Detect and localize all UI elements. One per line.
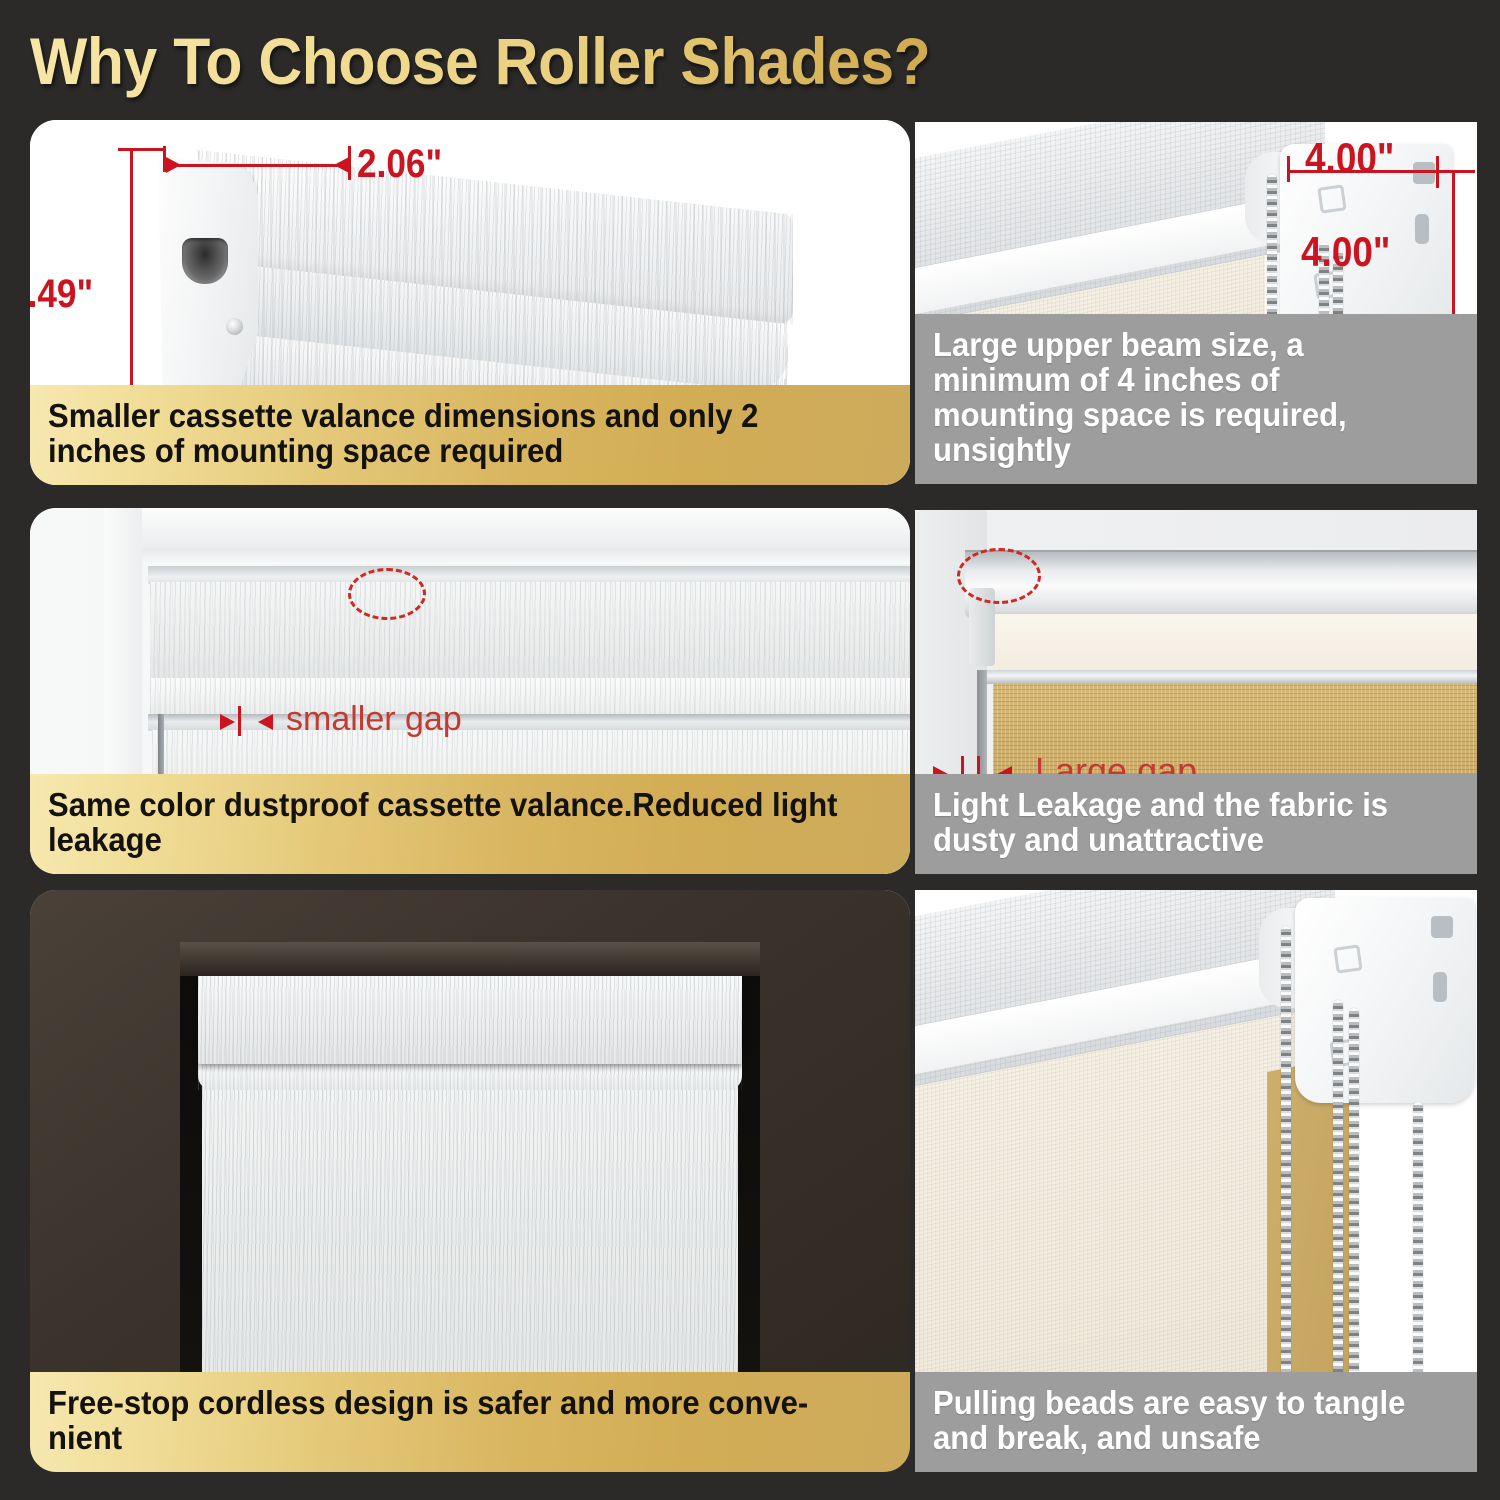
comparison-grid: 2.06" 5.49" Smaller cassette valance dim… xyxy=(0,0,1500,1500)
panel-6-caption: Pulling beads are easy to tangle and bre… xyxy=(915,1372,1477,1472)
bracket-emblem-icon xyxy=(1333,944,1362,973)
panel-1-caption: Smaller cassette valance dimensions and … xyxy=(30,385,910,485)
panel-1-caption-text: Smaller cassette valance dimensions and … xyxy=(48,399,841,469)
beam-width-label: 4.00" xyxy=(1305,134,1394,182)
panel-5-caption-text: Free-stop cordless design is safer and m… xyxy=(48,1386,841,1456)
bracket-slot-icon xyxy=(182,238,228,284)
panel-3-caption: Same color dustproof cassette valance.Re… xyxy=(30,774,910,874)
panel-4-caption: Light Leakage and the fabric is dusty an… xyxy=(915,774,1477,874)
gap-arrow-right xyxy=(258,714,273,730)
panel-dustproof-valance: smaller gap Same color dustproof cassett… xyxy=(30,508,910,874)
highlight-circle-icon xyxy=(348,568,426,620)
bracket-notch-icon xyxy=(1431,916,1453,938)
roller-tube xyxy=(965,552,1477,618)
panel-light-leakage: Large gap Light Leakage and the fabric i… xyxy=(915,510,1477,874)
shade-fabric xyxy=(202,1086,738,1416)
shade-metal-rail xyxy=(983,670,1477,684)
shade-cream-band xyxy=(993,614,1477,672)
panel-5-caption: Free-stop cordless design is safer and m… xyxy=(30,1372,910,1472)
height-dim-tick-top xyxy=(118,148,164,151)
bracket-notch-icon xyxy=(1413,162,1435,184)
bracket-screw-icon xyxy=(226,318,243,335)
bead-chain xyxy=(1281,926,1291,1446)
beam-height-label: 4.00" xyxy=(1301,228,1390,276)
panel-free-stop-cordless: Free-stop cordless design is safer and m… xyxy=(30,890,910,1472)
width-dim-arrow-left xyxy=(166,157,181,173)
window-reveal-top xyxy=(180,942,760,976)
cassette-valance xyxy=(198,972,742,1064)
beam-width-tick-left xyxy=(1287,156,1290,182)
width-dimension-label: 2.06" xyxy=(357,142,442,187)
panel-4-caption-text: Light Leakage and the fabric is dusty an… xyxy=(933,788,1427,858)
beam-height-tick-top xyxy=(1435,170,1475,173)
gap-arrow-left xyxy=(220,714,235,730)
width-dim-line xyxy=(166,164,350,167)
bracket-slot-icon xyxy=(1415,214,1429,244)
panel-large-upper-beam: 4.00" 4.00" Large upper beam size, a min… xyxy=(915,122,1477,484)
width-dim-arrow-right xyxy=(334,157,349,173)
panel-2-caption: Large upper beam size, a minimum of 4 in… xyxy=(915,314,1477,484)
highlight-circle-icon xyxy=(957,548,1041,604)
smaller-gap-label: smaller gap xyxy=(286,700,462,739)
gap-marker-line xyxy=(238,706,241,736)
panel-3-caption-text: Same color dustproof cassette valance.Re… xyxy=(48,788,841,858)
bracket-slot-icon xyxy=(1433,972,1447,1002)
panel-2-caption-text: Large upper beam size, a minimum of 4 in… xyxy=(933,328,1427,468)
panel-6-caption-text: Pulling beads are easy to tangle and bre… xyxy=(933,1386,1427,1456)
bracket-emblem-icon xyxy=(1317,184,1346,213)
panel-pulling-beads: Pulling beads are easy to tangle and bre… xyxy=(915,890,1477,1472)
window-frame-bevel xyxy=(142,548,910,564)
height-dimension-label: 5.49" xyxy=(30,272,93,317)
panel-smaller-cassette: 2.06" 5.49" Smaller cassette valance dim… xyxy=(30,120,910,485)
